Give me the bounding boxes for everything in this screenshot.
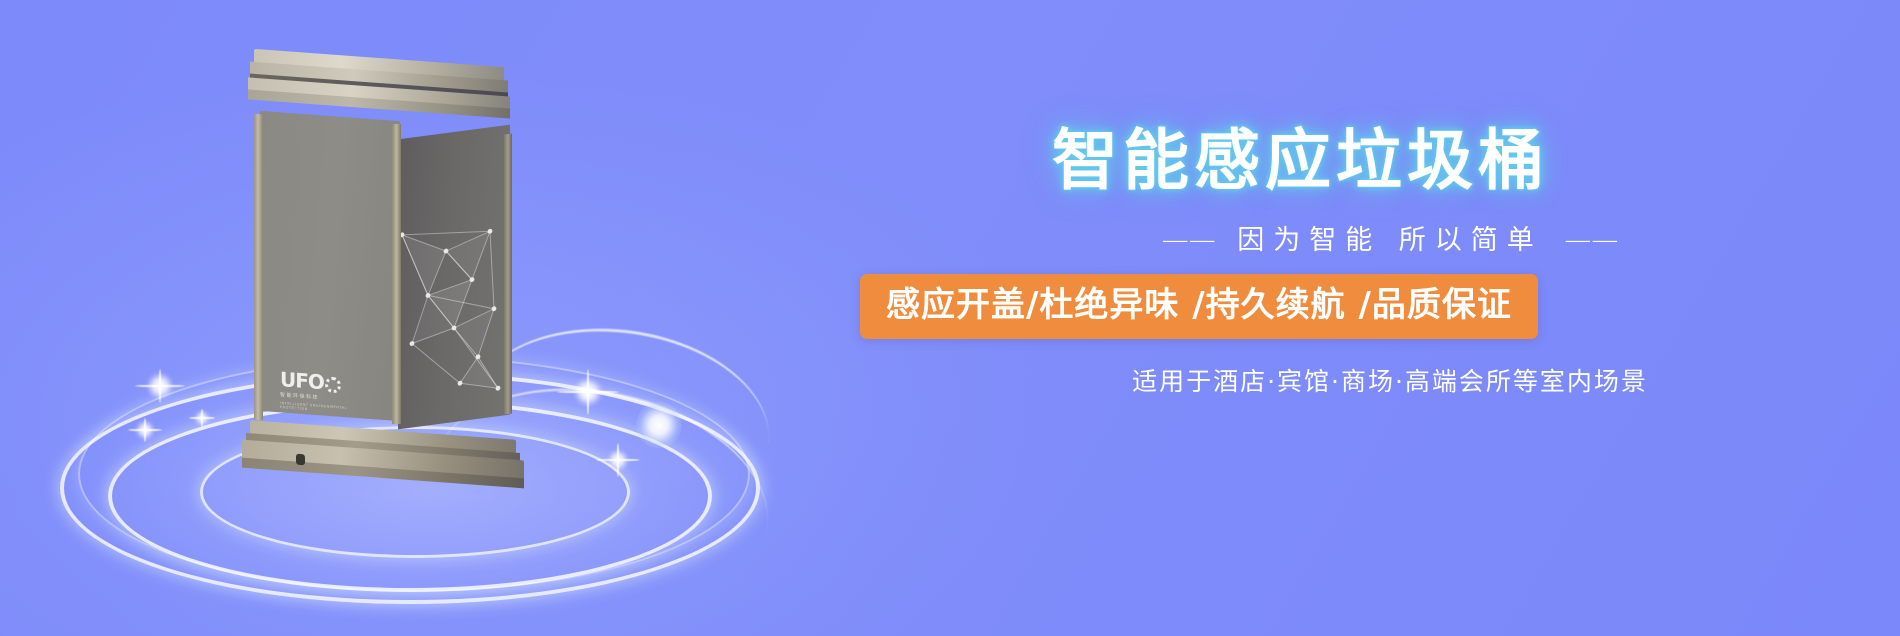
subtitle-dash-right: —— [1560, 225, 1622, 256]
brand-logo-text: UFO [280, 367, 324, 394]
bin-edge-right [504, 133, 512, 414]
bin-edge-corner [392, 124, 401, 424]
bin-face-right [398, 125, 510, 430]
product-banner: UFO 智能环保科技 INTELLIGENT ENVIRONMENTAL PRO… [0, 0, 1900, 636]
polygon-network-graphic [398, 125, 510, 430]
product-scene: UFO 智能环保科技 INTELLIGENT ENVIRONMENTAL PRO… [0, 0, 860, 636]
trash-bin: UFO 智能环保科技 INTELLIGENT ENVIRONMENTAL PRO… [246, 58, 514, 430]
bin-base-port [296, 454, 305, 466]
brand-logo-en: INTELLIGENT ENVIRONMENTAL PROTECTION [280, 401, 358, 415]
brand-logo-ring-icon [325, 376, 341, 393]
subtitle-text: 因为智能 所以简单 [1237, 225, 1543, 256]
copy-block: 智能感应垃圾桶 —— 因为智能 所以简单 —— 感应开盖/杜绝异味 /持久续航 … [880, 0, 1900, 636]
subtitle-dash-left: —— [1158, 225, 1220, 256]
bin-base [242, 430, 530, 496]
glow-orb-right [636, 402, 682, 448]
feature-badge: 感应开盖/杜绝异味 /持久续航 /品质保证 [860, 274, 1538, 339]
brand-logo: UFO 智能环保科技 INTELLIGENT ENVIRONMENTAL PRO… [280, 369, 358, 425]
banner-subtitle: —— 因为智能 所以简单 —— [880, 218, 1900, 257]
bin-body: UFO 智能环保科技 INTELLIGENT ENVIRONMENTAL PRO… [246, 104, 514, 434]
usage-scene-line: 适用于酒店·宾馆·商场·高端会所等室内场景 [880, 362, 1900, 398]
banner-title: 智能感应垃圾桶 [1052, 128, 1549, 194]
bin-edge-left [254, 114, 263, 421]
